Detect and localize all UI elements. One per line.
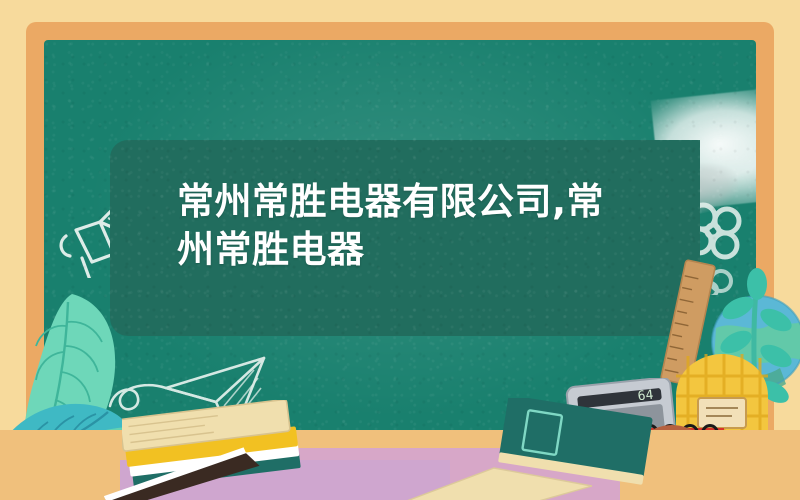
dark-book (96, 444, 266, 500)
page-title: 常州常胜电器有限公司,常州常胜电器 (177, 178, 607, 274)
open-book (404, 452, 594, 500)
page-title-text: 常州常胜电器有限公司,常州常胜电器 (177, 180, 604, 271)
illustration-canvas: 常州常胜电器有限公司,常州常胜电器 (0, 0, 800, 500)
